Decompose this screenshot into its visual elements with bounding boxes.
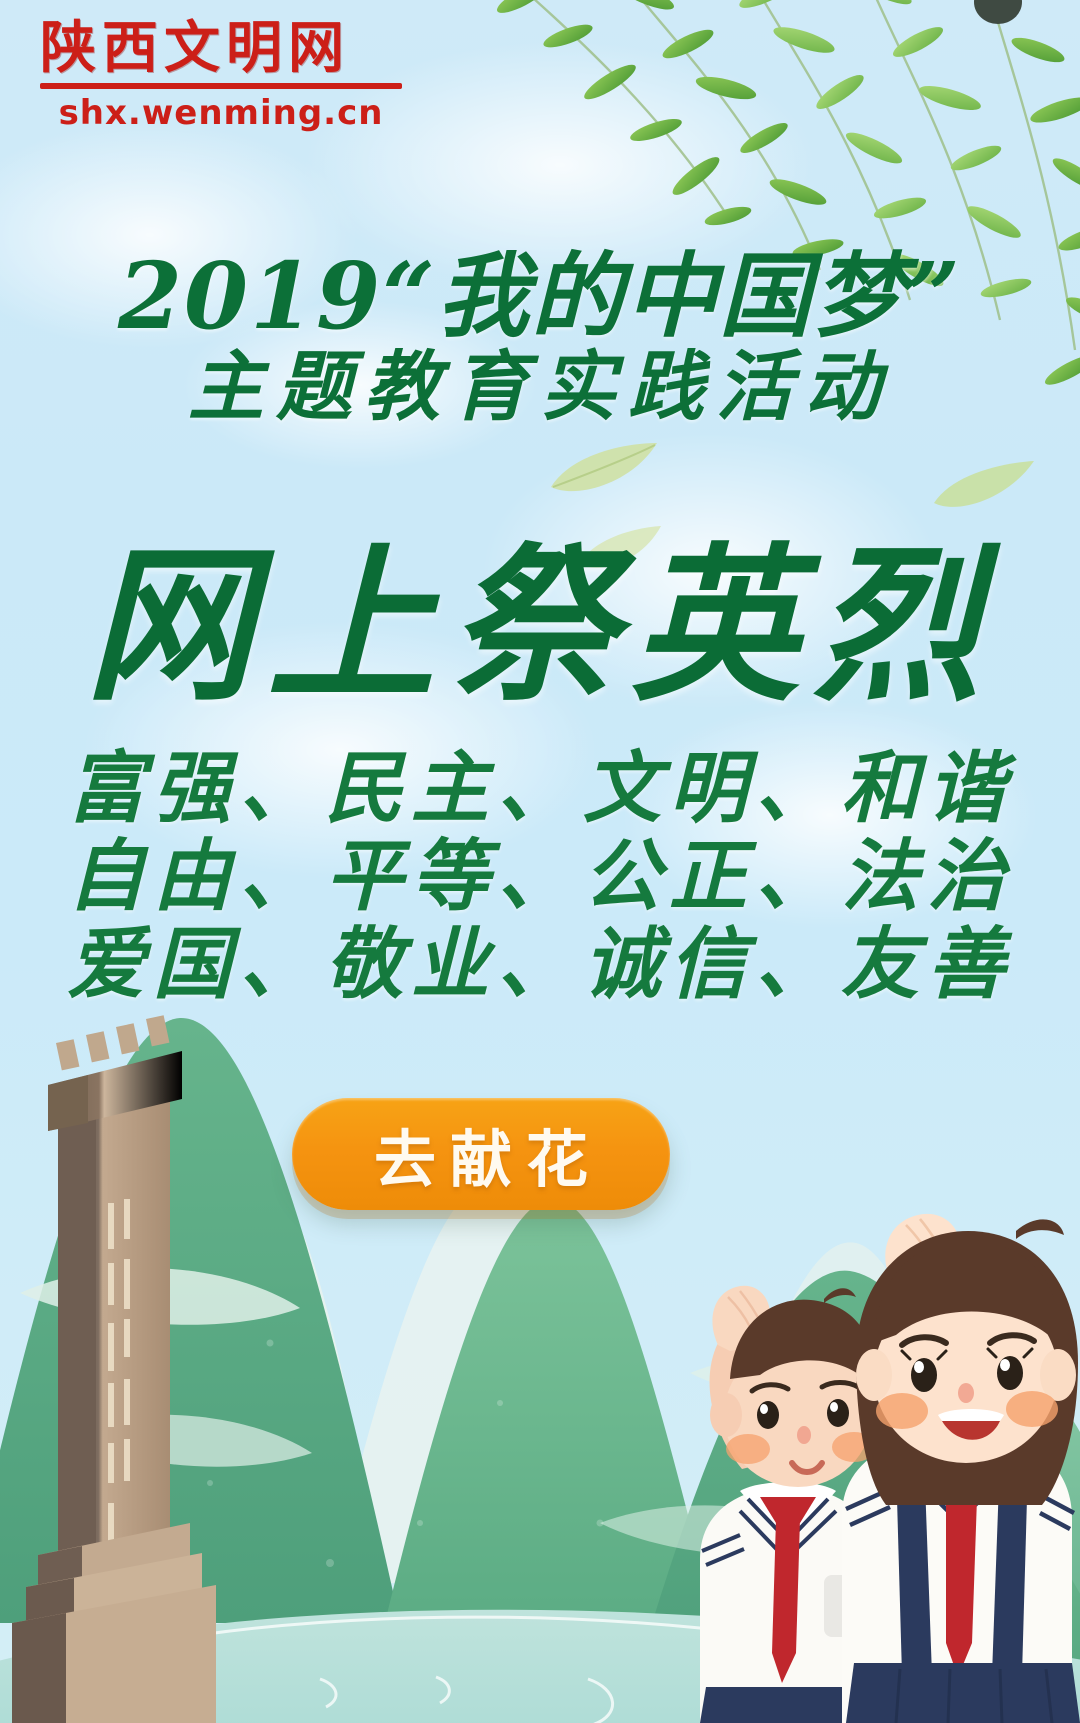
core-values-block: 富强、民主、文明、和谐 自由、平等、公正、法治 爱国、敬业、诚信、友善 — [0, 745, 1080, 1009]
landscape-illustration — [0, 963, 1080, 1723]
core-values-line: 爱国、敬业、诚信、友善 — [0, 921, 1080, 1009]
site-logo[interactable]: 陕西文明网 shx.wenming.cn — [40, 20, 440, 133]
page-title: 网上祭英烈 — [0, 490, 1080, 733]
corner-dot-decor — [974, 0, 1022, 24]
offer-flowers-button-label: 去献花 — [360, 1109, 602, 1199]
logo-divider — [40, 83, 402, 89]
young-pioneer-girl — [842, 1214, 1080, 1723]
poster-canvas: 陕西文明网 shx.wenming.cn 2019“我的中国梦” 主题教育实践活… — [0, 0, 1080, 1723]
offer-flowers-button[interactable]: 去献花 — [292, 1098, 670, 1210]
core-values-line: 富强、民主、文明、和谐 — [0, 745, 1080, 833]
site-logo-name: 陕西文明网 — [40, 20, 440, 79]
core-values-line: 自由、平等、公正、法治 — [0, 833, 1080, 921]
campaign-subtitle-line2: 主题教育实践活动 — [0, 325, 1080, 435]
site-logo-url: shx.wenming.cn — [40, 93, 402, 133]
